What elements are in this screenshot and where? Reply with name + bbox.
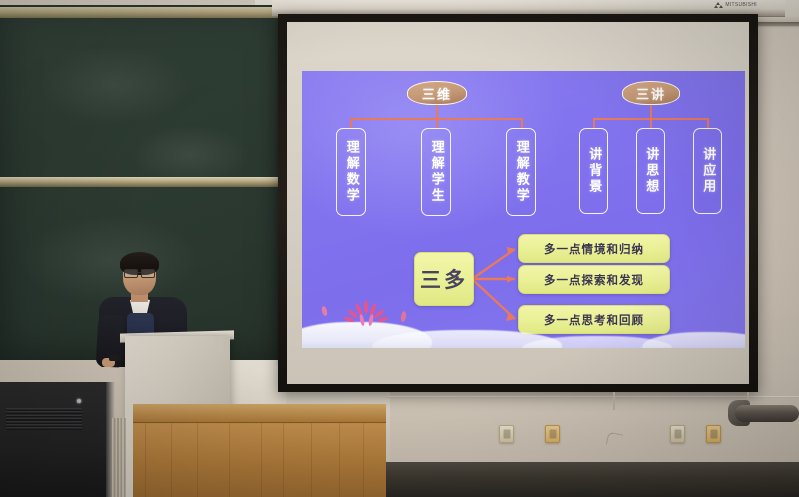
tree-right-leaf-1: 讲背景 bbox=[579, 128, 608, 214]
wall-outlet[interactable] bbox=[545, 425, 560, 443]
snow-shape bbox=[642, 332, 745, 348]
connector-left-drop-1 bbox=[350, 118, 352, 128]
connector-left-stem bbox=[436, 105, 438, 119]
baseboard bbox=[386, 462, 799, 497]
wall-seam bbox=[386, 396, 799, 398]
chalk-smudge bbox=[40, 45, 190, 125]
fan-target-box-1: 多一点情境和归纳 bbox=[518, 234, 670, 263]
lotus-bud bbox=[400, 311, 407, 323]
presentation-slide: 三维 理解数学 理解学生 理解教学 三讲 讲背景 讲思想 讲应用 bbox=[302, 71, 745, 348]
wall-outlet[interactable] bbox=[706, 425, 721, 443]
chalk-smudge bbox=[130, 125, 250, 185]
mitsubishi-icon bbox=[715, 2, 722, 8]
projector-screen-frame: 三维 理解数学 理解学生 理解教学 三讲 讲背景 讲思想 讲应用 bbox=[278, 14, 758, 392]
chalkboard-rail-top bbox=[0, 7, 286, 18]
cabinet-indicator-light bbox=[77, 399, 81, 403]
projector-screen-surface: 三维 理解数学 理解学生 理解教学 三讲 讲背景 讲思想 讲应用 bbox=[287, 22, 749, 384]
cabinet-vent bbox=[6, 408, 82, 430]
connector-right-drop-2 bbox=[650, 118, 652, 128]
equipment-cabinet bbox=[0, 382, 112, 497]
tree-left-head: 三维 bbox=[407, 81, 467, 105]
glasses-icon bbox=[124, 269, 155, 276]
chalkboard-rail-middle bbox=[0, 177, 286, 187]
tree-right-leaf-3: 讲应用 bbox=[693, 128, 722, 214]
tree-right-leaf-2: 讲思想 bbox=[636, 128, 665, 214]
front-desk-lip bbox=[133, 404, 386, 423]
connector-left-drop-3 bbox=[521, 118, 523, 128]
fan-source-box: 三多 bbox=[414, 252, 474, 306]
connector-right-stem bbox=[650, 105, 652, 119]
wall-outlet[interactable] bbox=[670, 425, 685, 443]
wall-scuff bbox=[606, 432, 623, 448]
connector-left-drop-2 bbox=[436, 118, 438, 128]
brand-logo-text: MITSUBISHI bbox=[725, 2, 757, 8]
fan-target-box-2: 多一点探索和发现 bbox=[518, 265, 670, 294]
brand-logo: MITSUBISHI bbox=[715, 2, 757, 8]
tree-left-leaf-1: 理解数学 bbox=[336, 128, 366, 216]
classroom-photo: MITSUBISHI 三维 理解数学 理解学生 理解教学 三讲 bbox=[0, 0, 799, 497]
tree-left-leaf-3: 理解教学 bbox=[506, 128, 536, 216]
presenter-remote bbox=[109, 355, 121, 361]
wall-pipe bbox=[735, 405, 799, 422]
connector-right-drop-3 bbox=[707, 118, 709, 128]
tree-right-head: 三讲 bbox=[622, 81, 680, 105]
tree-left-leaf-2: 理解学生 bbox=[421, 128, 451, 216]
lotus-bud bbox=[321, 306, 328, 317]
wall-outlet[interactable] bbox=[499, 425, 514, 443]
screen-cord bbox=[613, 392, 615, 410]
radiator bbox=[112, 418, 126, 497]
lotus-flower bbox=[350, 302, 384, 326]
slide-bottom-decoration bbox=[302, 300, 745, 348]
connector-right-drop-1 bbox=[593, 118, 595, 128]
